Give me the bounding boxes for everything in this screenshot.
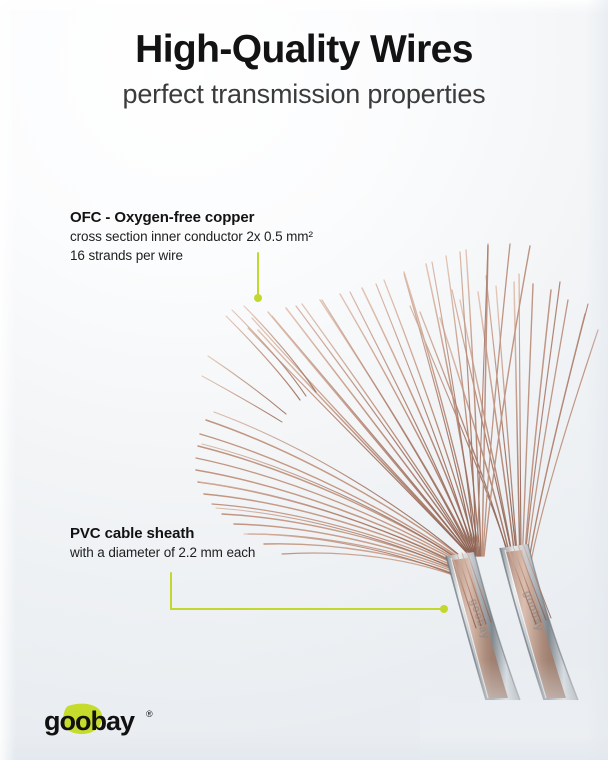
infographic-canvas: goobay goobay bbox=[0, 0, 608, 760]
page-subtitle: perfect transmission properties bbox=[0, 72, 608, 110]
annotation-ofc: OFC - Oxygen-free copper cross section i… bbox=[70, 208, 313, 265]
goobay-logo: goobay ® bbox=[42, 703, 162, 737]
edge-vignette bbox=[0, 0, 608, 760]
annotation-ofc-line-2: 16 strands per wire bbox=[70, 246, 313, 265]
annotation-pvc-line-1: with a diameter of 2.2 mm each bbox=[70, 543, 255, 562]
ofc-pointer-dot bbox=[254, 294, 262, 302]
ofc-pointer-line bbox=[257, 252, 259, 298]
annotation-ofc-title: OFC - Oxygen-free copper bbox=[70, 208, 313, 227]
logo-registered-mark: ® bbox=[146, 709, 153, 719]
annotation-pvc: PVC cable sheath with a diameter of 2.2 … bbox=[70, 524, 255, 562]
pvc-pointer-dot bbox=[440, 605, 448, 613]
svg-text:goobay: goobay bbox=[467, 597, 492, 641]
annotation-ofc-line-1: cross section inner conductor 2x 0.5 mm² bbox=[70, 227, 313, 246]
annotation-pvc-title: PVC cable sheath bbox=[70, 524, 255, 543]
logo-wordmark: goobay bbox=[44, 706, 135, 736]
page-title: High-Quality Wires bbox=[0, 0, 608, 72]
pvc-pointer-line-horizontal bbox=[170, 608, 445, 610]
pvc-pointer-line-vertical bbox=[170, 572, 172, 610]
svg-text:goobay: goobay bbox=[521, 589, 546, 633]
header: High-Quality Wires perfect transmission … bbox=[0, 0, 608, 110]
product-photo-copper-cable: goobay goobay bbox=[0, 0, 608, 760]
